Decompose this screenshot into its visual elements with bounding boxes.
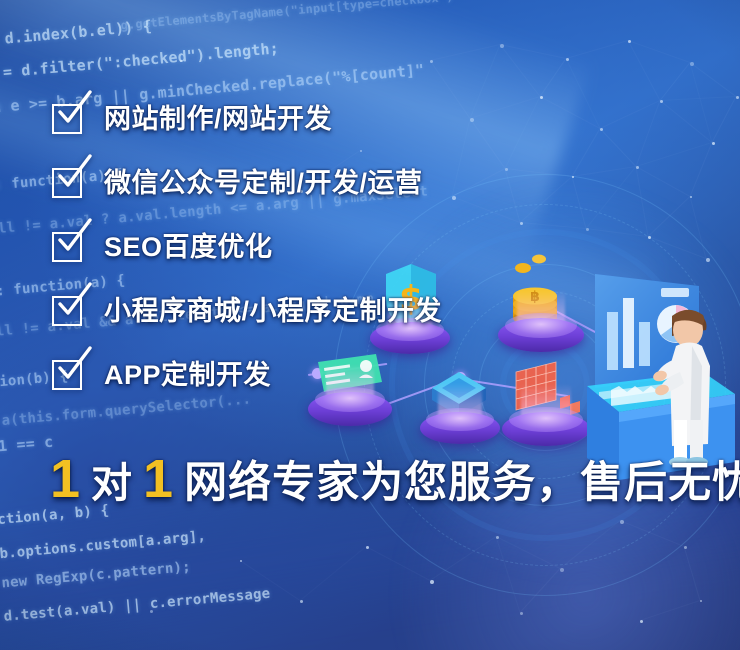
network-edge [520,568,561,613]
code-line: g.getElementsByTagName("input[type=check… [120,0,454,33]
network-node [366,546,369,549]
tagline-number-first: 1 [50,452,80,506]
network-edge [628,40,690,63]
network-node [736,96,739,99]
network-edge [500,44,566,59]
checklist-item-label: 网站制作/网站开发 [104,106,332,133]
network-node [150,610,153,613]
services-checklist: 网站制作/网站开发 微信公众号定制/开发/运营 SEO百度优化 [52,98,692,418]
network-node [706,258,710,262]
network-node [566,58,569,61]
network-edge [684,546,701,600]
network-edge [540,58,567,97]
code-line: e = d.filter(":checked").length; [0,39,280,83]
checklist-item-label: APP定制开发 [104,362,271,389]
network-edge [640,600,700,621]
code-line: 1 == c [0,433,54,456]
checklist-item-wechat[interactable]: 微信公众号定制/开发/运营 [52,162,692,204]
network-edge [496,536,521,612]
network-node [628,40,631,43]
network-edge [628,40,661,100]
network-edge [560,520,621,569]
checklist-item-label: 小程序商城/小程序定制开发 [104,298,442,325]
code-line: = d.index(b.el)) { [0,17,153,49]
network-node [300,600,303,603]
network-node [712,142,715,145]
code-line: = b.options.custom[a.arg], [0,528,207,563]
network-edge [712,96,737,142]
check-mark-icon [56,94,96,130]
promo-banner: g.getElementsByTagName("input[type=check… [0,0,740,650]
checkbox-checked-icon[interactable] [52,360,82,390]
network-edge [690,142,713,196]
network-edge [500,44,541,97]
network-node [430,60,433,63]
network-node [700,600,702,602]
network-edge [366,546,430,581]
network-node [496,536,499,539]
checkbox-checked-icon[interactable] [52,104,82,134]
network-node [180,60,182,62]
network-node [640,620,643,623]
network-edge [430,536,497,581]
network-edge [660,62,691,101]
checklist-item-app[interactable]: APP定制开发 [52,354,692,396]
network-node [430,580,434,584]
tagline-connector-word: 对 [91,463,132,504]
network-edge [690,196,707,258]
checklist-item-label: SEO百度优化 [104,234,273,261]
checkbox-checked-icon[interactable] [52,168,82,198]
code-line: = new RegExp(c.pattern); [0,559,191,593]
network-node [520,612,523,615]
light-beam-bottom [0,403,740,650]
network-node [620,520,624,524]
code-line: n d.test(a.val) || c.errorMessage [0,586,271,627]
network-node [690,62,694,66]
network-edge [240,560,301,601]
network-node [560,568,564,572]
checklist-item-miniprogram[interactable]: 小程序商城/小程序定制开发 [52,290,692,332]
network-node [240,560,242,562]
check-mark-icon [56,158,96,194]
network-edge [690,62,713,142]
checklist-item-website[interactable]: 网站制作/网站开发 [52,98,692,140]
checkbox-checked-icon[interactable] [52,296,82,326]
tagline-number-second: 1 [143,452,173,506]
checklist-item-seo[interactable]: SEO百度优化 [52,226,692,268]
network-edge [690,62,737,97]
tagline-main-text: 网络专家为您服务，售后无忧! [184,462,740,505]
network-edge [430,44,500,61]
network-node [500,44,504,48]
network-edge [620,520,684,547]
checklist-item-label: 微信公众号定制/开发/运营 [104,170,423,197]
check-mark-icon [56,286,96,322]
network-edge [566,40,628,59]
network-edge [300,546,367,601]
check-mark-icon [56,350,96,386]
check-mark-icon [56,222,96,258]
tagline: 1 对 1 网络专家为您服务，售后无忧! [50,452,740,506]
checkbox-checked-icon[interactable] [52,232,82,262]
network-node [684,546,687,549]
network-edge [496,536,560,569]
